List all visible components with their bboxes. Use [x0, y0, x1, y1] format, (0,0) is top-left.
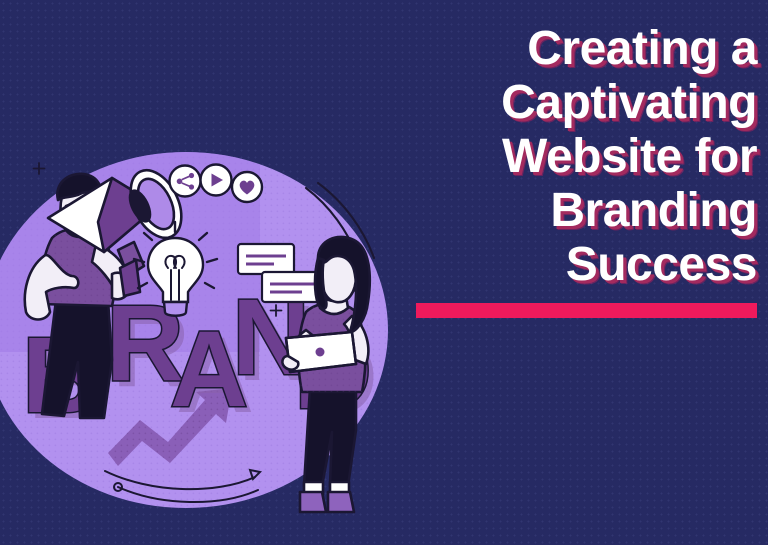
branding-illustration: B R A N D B R A N D: [0, 0, 420, 545]
sparkle-icon: [34, 163, 45, 174]
play-icon: [201, 165, 232, 196]
page-title: Creating a Captivating Website for Brand…: [407, 22, 757, 292]
message-card-icon: [262, 272, 322, 302]
headline-block: Creating a Captivating Website for Brand…: [407, 22, 757, 318]
underline-accent-bar: [416, 303, 757, 318]
message-card-icon: [238, 244, 294, 274]
share-icon: [170, 166, 201, 197]
promotional-banner: B R A N D B R A N D: [0, 0, 768, 545]
heart-icon: [232, 172, 262, 202]
